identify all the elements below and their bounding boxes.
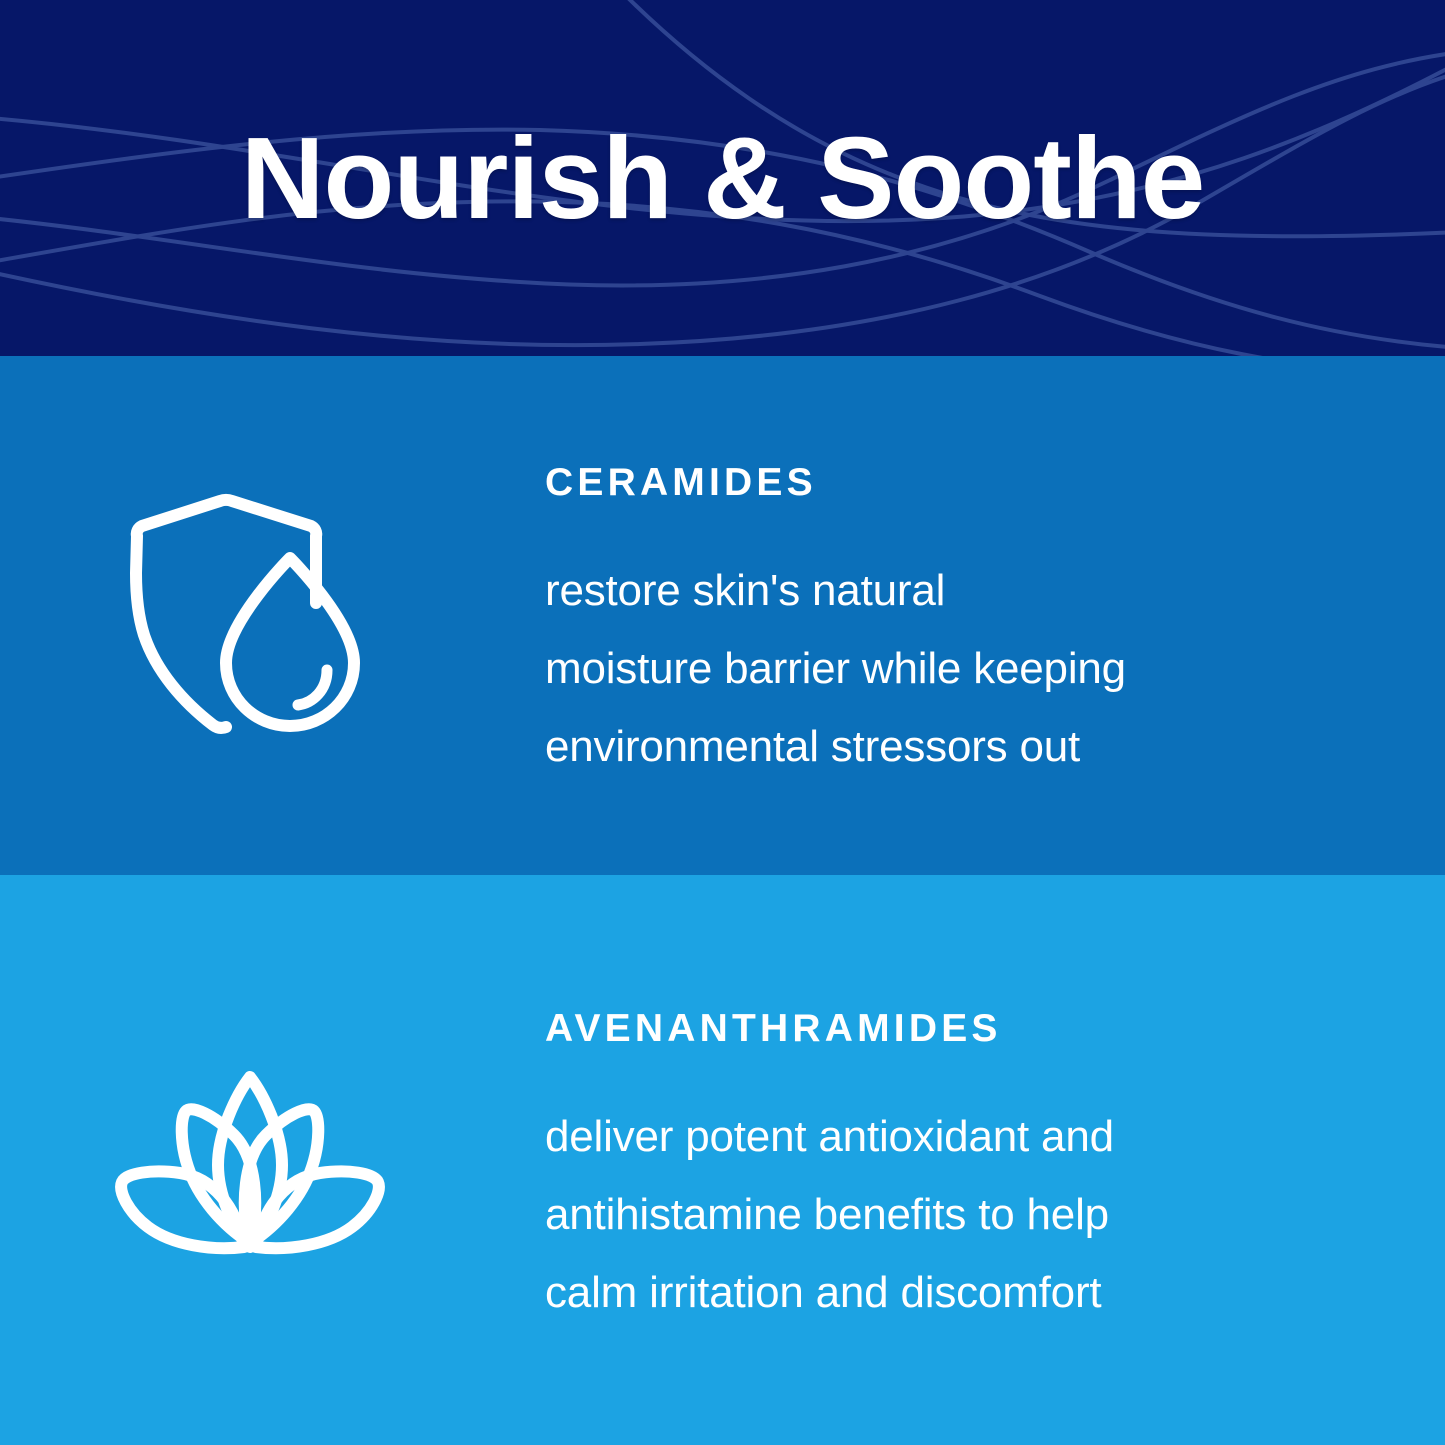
page-title: Nourish & Soothe (0, 0, 1445, 356)
body-line: moisture barrier while keeping (545, 630, 1325, 708)
heading-avenanthramides: AVENANTHRAMIDES (545, 1008, 1325, 1051)
body-line: deliver potent antioxidant and (545, 1098, 1325, 1176)
text-block-avenanthramides: AVENANTHRAMIDES deliver potent antioxida… (545, 1008, 1325, 1332)
ingredient-benefits-infographic: Nourish & Soothe CERAMIDES restore skin'… (0, 0, 1445, 1445)
lotus-flower-icon (100, 1055, 400, 1270)
heading-ceramides: CERAMIDES (545, 462, 1325, 505)
body-ceramides: restore skin's natural moisture barrier … (545, 552, 1325, 786)
text-block-ceramides: CERAMIDES restore skin's natural moistur… (545, 462, 1325, 786)
body-line: calm irritation and discomfort (545, 1254, 1325, 1332)
body-line: restore skin's natural (545, 552, 1325, 630)
body-avenanthramides: deliver potent antioxidant and antihista… (545, 1098, 1325, 1332)
body-line: antihistamine benefits to help (545, 1176, 1325, 1254)
shield-droplet-icon (108, 485, 398, 750)
body-line: environmental stressors out (545, 708, 1325, 786)
header-banner: Nourish & Soothe (0, 0, 1445, 356)
